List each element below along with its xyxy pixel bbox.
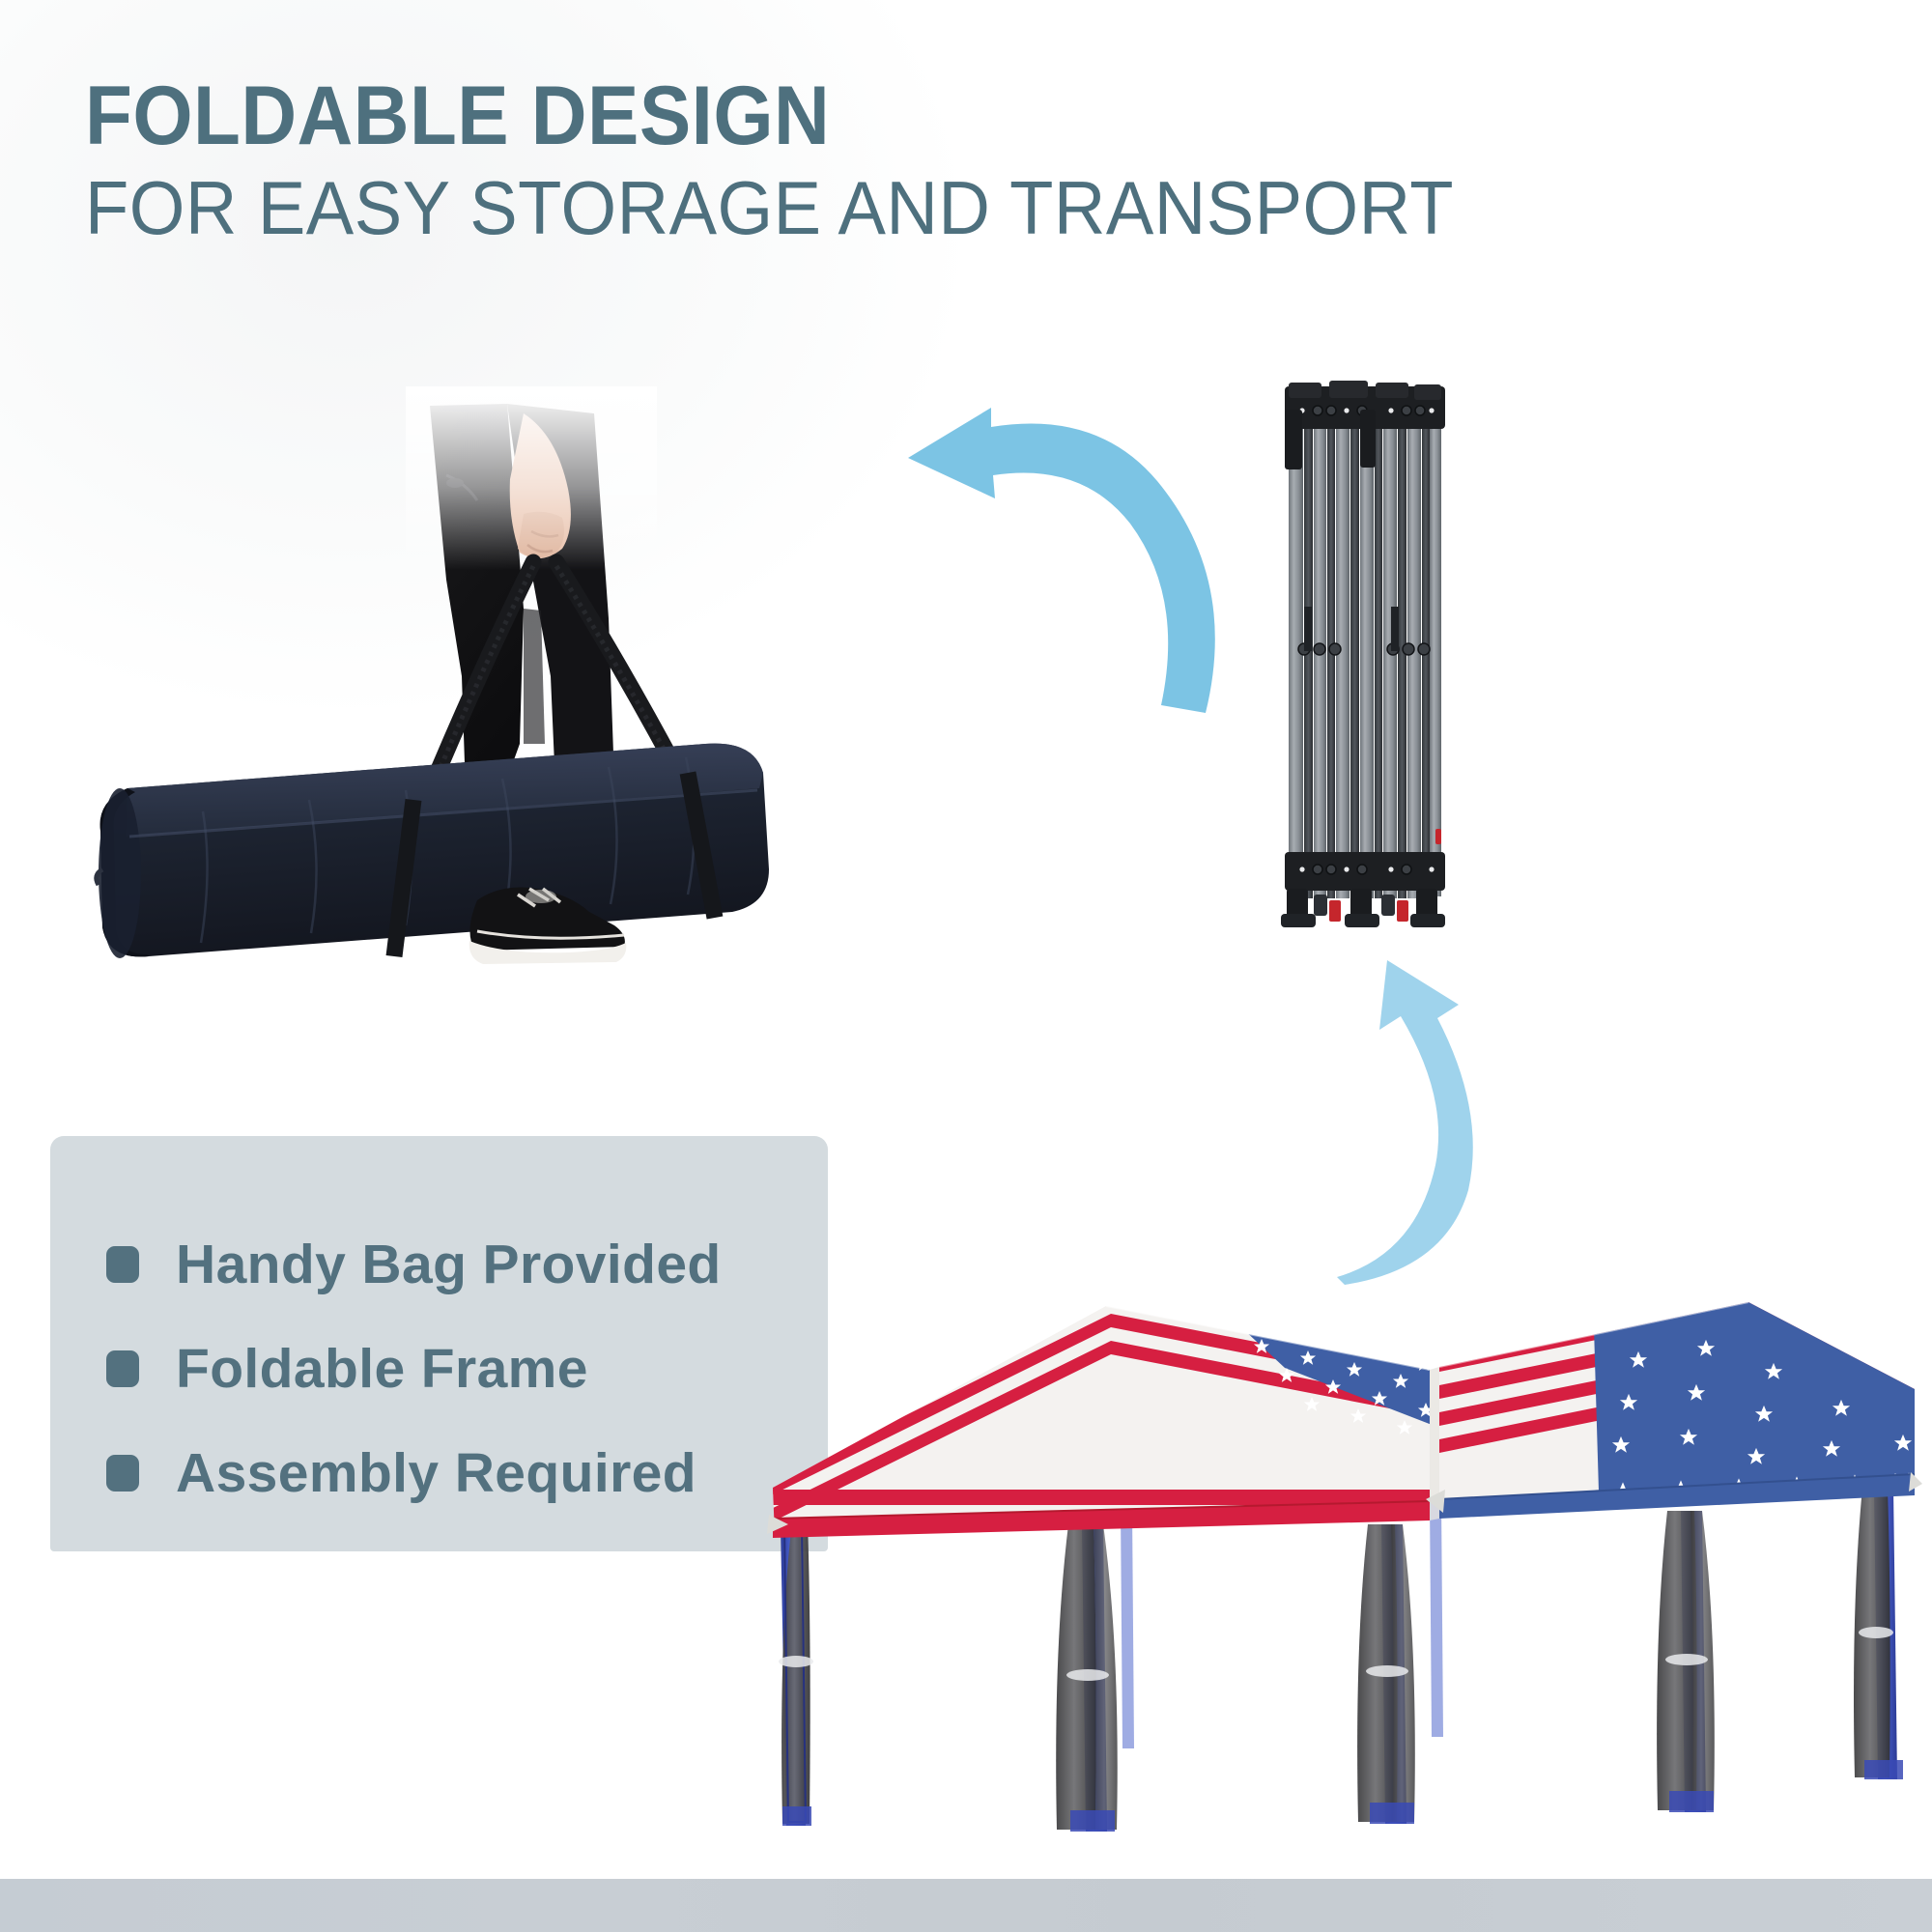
headline-secondary: FOR EASY STORAGE AND TRANSPORT xyxy=(85,170,1755,245)
gazebo-legs xyxy=(779,1488,1903,1832)
page-title: FOLDABLE DESIGN FOR EASY STORAGE AND TRA… xyxy=(85,75,1843,245)
frame-bottom-joints xyxy=(1285,852,1445,891)
folded-frame-photo xyxy=(1246,367,1468,937)
carry-bag-photo xyxy=(87,290,860,947)
bullet-square-icon xyxy=(106,1455,139,1492)
storage-bag xyxy=(97,744,769,958)
list-item: Handy Bag Provided xyxy=(50,1212,1016,1317)
feature-list: Handy Bag Provided Foldable Frame Assemb… xyxy=(50,1212,1016,1525)
curved-arrow-left-icon xyxy=(908,408,1215,713)
arrow-gazebo-to-frame xyxy=(1323,966,1555,1285)
bottom-divider-band xyxy=(0,1879,1932,1932)
list-item: Assembly Required xyxy=(50,1421,1016,1525)
arrow-bag-to-frame xyxy=(898,406,1227,724)
feature-label: Assembly Required xyxy=(176,1441,696,1505)
feature-label: Foldable Frame xyxy=(176,1337,588,1401)
list-item: Foldable Frame xyxy=(50,1317,1016,1421)
feature-label: Handy Bag Provided xyxy=(176,1233,722,1296)
infographic-canvas: FOLDABLE DESIGN FOR EASY STORAGE AND TRA… xyxy=(0,0,1932,1932)
curved-arrow-up-icon xyxy=(1337,960,1473,1285)
bullet-square-icon xyxy=(106,1350,139,1387)
headline-primary: FOLDABLE DESIGN xyxy=(85,75,1720,156)
bullet-square-icon xyxy=(106,1246,139,1283)
